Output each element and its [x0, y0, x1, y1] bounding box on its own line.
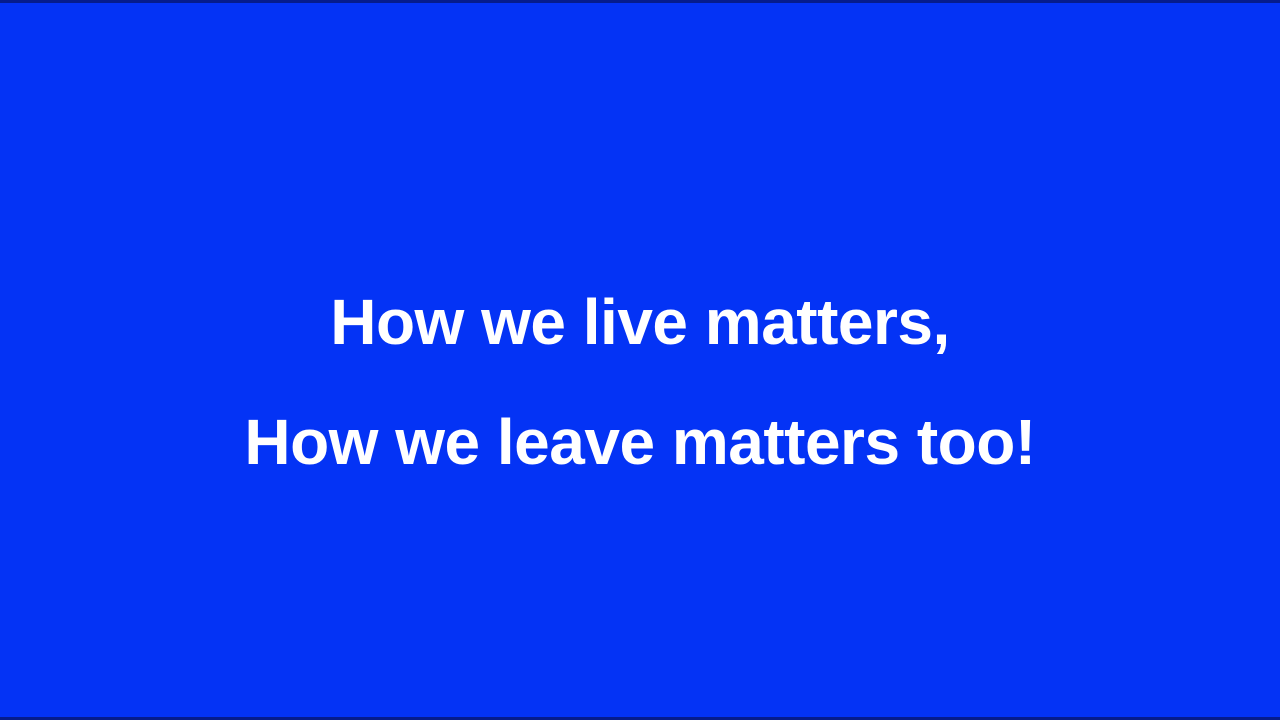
top-letterbox-strip	[0, 0, 1280, 3]
caption-line-2: How we leave matters too!	[0, 382, 1280, 502]
caption-line-1: How we live matters,	[0, 262, 1280, 382]
caption-block: How we live matters, How we leave matter…	[0, 262, 1280, 502]
lyric-slide: How we live matters, How we leave matter…	[0, 0, 1280, 720]
